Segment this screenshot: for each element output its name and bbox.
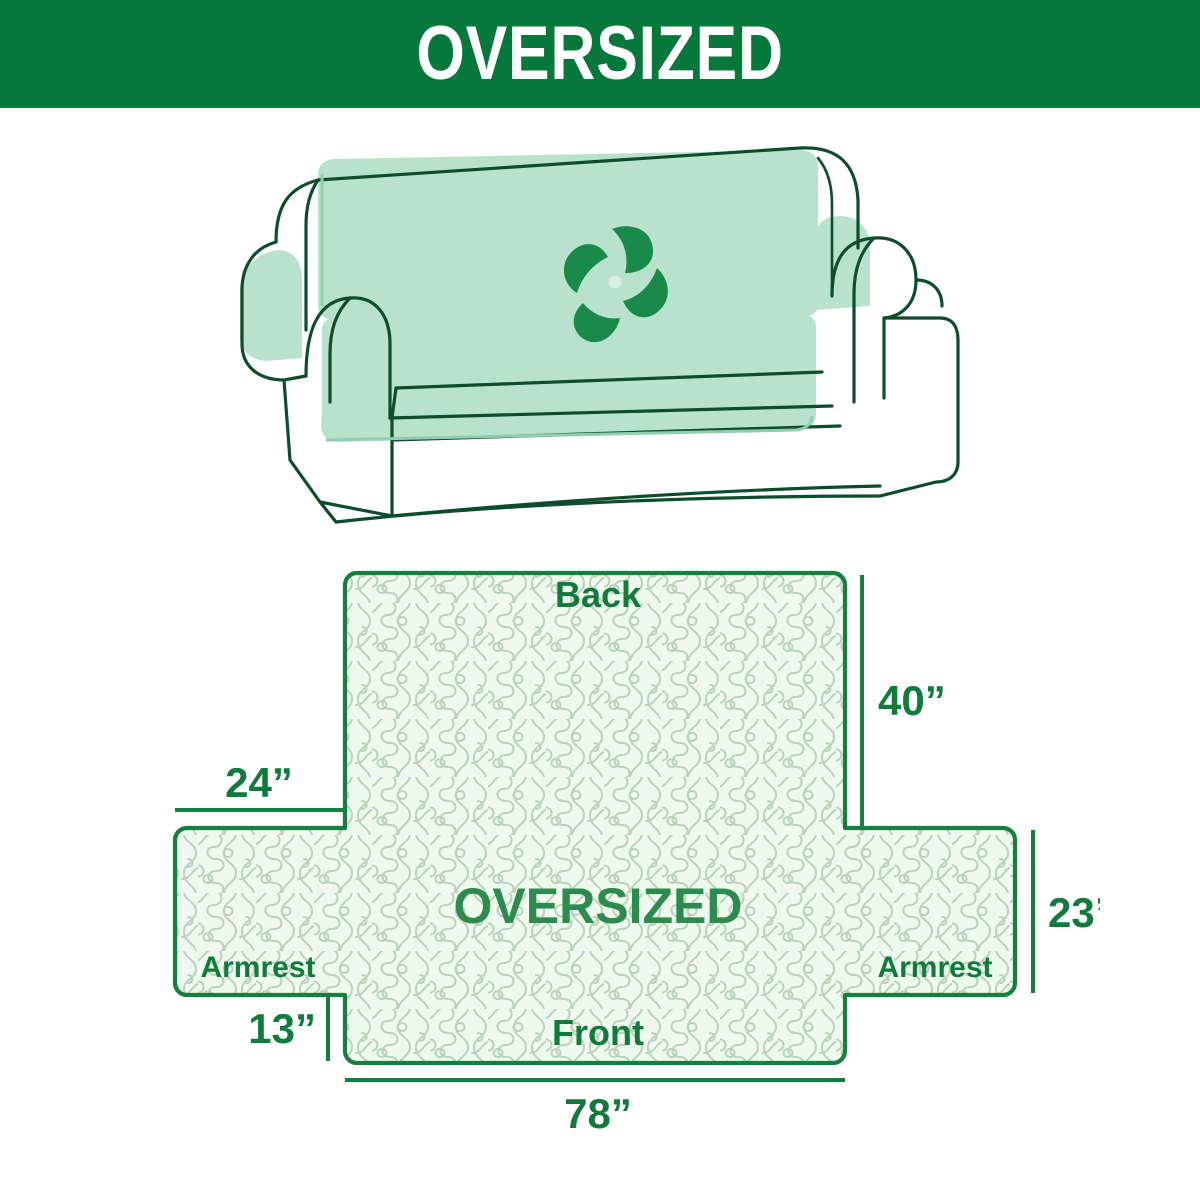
sofa-backrest-top-inner <box>306 180 318 330</box>
dimension-back-height-label: 40” <box>878 677 946 724</box>
center-label-oversized: OVERSIZED <box>454 878 743 934</box>
dimension-armrest-height: 23” <box>1033 830 1100 993</box>
panel-label-back: Back <box>555 574 642 615</box>
cover-cross-shape <box>175 573 1015 1063</box>
dimension-front-width: 78” <box>345 1080 845 1137</box>
sofa-right-side-panel <box>880 318 958 496</box>
dimension-front-skirt-height: 13” <box>248 997 328 1061</box>
header-banner: OVERSIZED <box>0 0 1200 108</box>
panel-label-armrest-left: Armrest <box>200 951 315 984</box>
panel-label-armrest-right: Armrest <box>877 951 992 984</box>
panel-label-front: Front <box>552 1012 644 1053</box>
sofa-right-base-edge <box>916 280 942 306</box>
slipcover-seat-fill <box>321 314 816 442</box>
dimension-front-skirt-height-label: 13” <box>248 1005 316 1052</box>
slipcover-left-arm-fill <box>240 250 302 361</box>
dimension-armrest-width-label: 24” <box>225 759 293 806</box>
dimension-back-height: 40” <box>862 575 946 826</box>
banner-title: OVERSIZED <box>416 16 784 92</box>
sofa-illustration: .ln { fill:none; stroke:#0d4d2b; stroke-… <box>240 130 980 525</box>
dimension-armrest-height-label: 23” <box>1048 889 1100 936</box>
dimension-armrest-width: 24” <box>175 759 343 810</box>
flat-layout-diagram: Back Front Armrest Armrest OVERSIZED 40”… <box>140 545 1100 1145</box>
slipcover-right-arm-fill <box>816 216 870 310</box>
dimension-front-width-label: 78” <box>564 1090 632 1137</box>
